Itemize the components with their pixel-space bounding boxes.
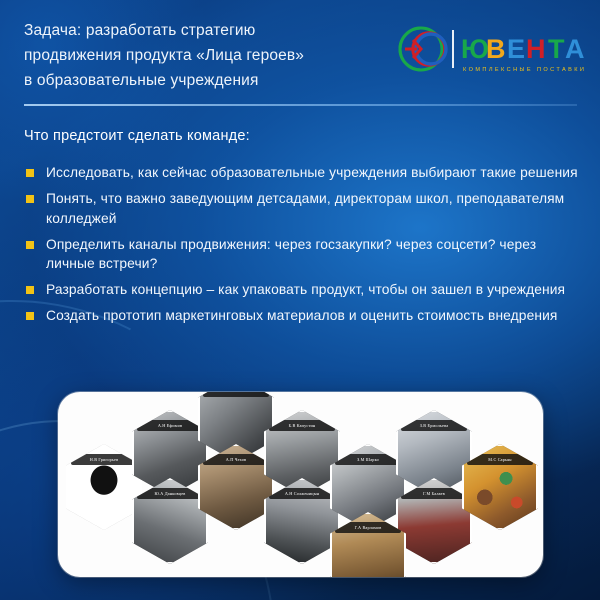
bullet-marker-icon bbox=[26, 241, 34, 249]
hexagon-frame bbox=[66, 444, 142, 530]
svg-text:В: В bbox=[486, 34, 506, 64]
svg-text:А: А bbox=[565, 34, 585, 64]
hexagon-frame bbox=[264, 478, 340, 564]
bullet-marker-icon bbox=[26, 195, 34, 203]
hexagon-frame bbox=[198, 444, 274, 530]
title-line-3: в образовательные учреждения bbox=[24, 68, 394, 93]
slide: Задача: разработать стратегию продвижени… bbox=[0, 0, 600, 600]
logo-divider bbox=[452, 30, 454, 68]
hexagon-frame bbox=[396, 478, 472, 564]
list-item: Определить каналы продвижения: через гос… bbox=[24, 235, 582, 274]
slide-header: Задача: разработать стратегию продвижени… bbox=[0, 0, 600, 104]
header-divider bbox=[24, 104, 577, 106]
title-line-2: продвижения продукта «Лица героев» bbox=[24, 43, 394, 68]
list-item: Исследовать, как сейчас образовательные … bbox=[24, 163, 582, 183]
list-item-label: Создать прототип маркетинговых материало… bbox=[46, 306, 557, 326]
logo-wordmark: Ю В Е Н Т А bbox=[461, 34, 585, 64]
hexagon-frame bbox=[462, 444, 538, 530]
hexagon-tile: М.С Сарьян bbox=[462, 444, 538, 530]
logo-emblem-icon bbox=[400, 28, 446, 70]
bullet-marker-icon bbox=[26, 286, 34, 294]
list-item-label: Определить каналы продвижения: через гос… bbox=[46, 235, 582, 274]
list-item-label: Понять, что важно заведующим детсадами, … bbox=[46, 189, 582, 228]
svg-text:Е: Е bbox=[507, 34, 525, 64]
hexagon-tile: Ю.А Данковцев bbox=[132, 478, 208, 564]
svg-text:Н: Н bbox=[526, 34, 546, 64]
hexagon-tile: А.П Чехов bbox=[198, 444, 274, 530]
list-item-label: Разработать концепцию – как упаковать пр… bbox=[46, 280, 565, 300]
hexagon-frame bbox=[330, 512, 406, 577]
company-logo: Ю В Е Н Т А КОМПЛЕКСНЫЕ ПОСТАВКИ bbox=[391, 24, 586, 76]
list-item-label: Исследовать, как сейчас образовательные … bbox=[46, 163, 578, 183]
hexagon-frame bbox=[132, 478, 208, 564]
list-item: Создать прототип маркетинговых материало… bbox=[24, 306, 582, 326]
task-list: Исследовать, как сейчас образовательные … bbox=[24, 163, 582, 333]
hexagon-tile: Г.А Варламов bbox=[330, 512, 406, 577]
bullet-marker-icon bbox=[26, 312, 34, 320]
bullet-marker-icon bbox=[26, 169, 34, 177]
page-title: Задача: разработать стратегию продвижени… bbox=[24, 18, 394, 93]
logo-artwork: Ю В Е Н Т А КОМПЛЕКСНЫЕ ПОСТАВКИ bbox=[391, 24, 586, 76]
logo-tagline: КОМПЛЕКСНЫЕ ПОСТАВКИ bbox=[463, 67, 586, 73]
hexagon-tile: Г.М Балаев bbox=[396, 478, 472, 564]
hexagon-tile: А.Н Солженицын bbox=[264, 478, 340, 564]
hexagon-tile: Н.В Григорьев bbox=[66, 444, 142, 530]
list-item: Понять, что важно заведующим детсадами, … bbox=[24, 189, 582, 228]
svg-text:Ю: Ю bbox=[461, 34, 489, 64]
list-item: Разработать концепцию – как упаковать пр… bbox=[24, 280, 582, 300]
svg-text:Т: Т bbox=[548, 34, 565, 64]
photo-collage-card: Н.В Григорьев А.Н Ефимов Ю.А Данковцев bbox=[58, 392, 543, 577]
lead-text: Что предстоит сделать команде: bbox=[24, 128, 250, 144]
hexagon-mosaic: Н.В Григорьев А.Н Ефимов Ю.А Данковцев bbox=[58, 392, 543, 577]
title-line-1: Задача: разработать стратегию bbox=[24, 18, 394, 43]
